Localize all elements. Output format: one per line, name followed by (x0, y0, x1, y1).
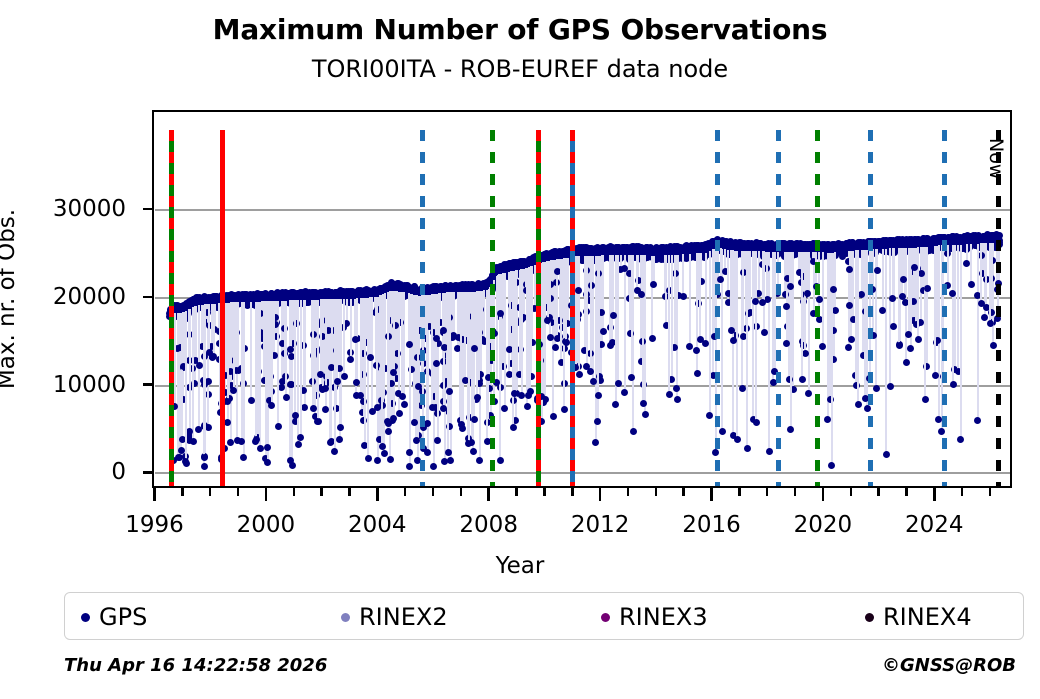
data-stem (398, 292, 400, 394)
data-point (497, 457, 504, 464)
y-tick-label: 30000 (53, 196, 126, 222)
data-point (552, 344, 559, 351)
data-point (744, 445, 751, 452)
data-point (476, 457, 483, 464)
data-stem (952, 245, 954, 293)
data-point (753, 419, 760, 426)
data-point (615, 380, 622, 387)
data-stem (766, 252, 768, 299)
chart-subtitle: TORI00ITA - ROB-EUREF data node (0, 55, 1040, 83)
y-tick-label: 0 (111, 459, 126, 485)
data-stem (970, 244, 972, 285)
data-stem (768, 252, 770, 452)
data-point (968, 281, 975, 288)
data-point (706, 412, 713, 419)
data-point (396, 410, 403, 417)
data-point (590, 378, 597, 385)
data-point (547, 334, 554, 341)
data-stem (303, 300, 305, 391)
data-stem (403, 292, 405, 404)
data-stem (806, 252, 808, 294)
data-stem (857, 250, 859, 404)
data-stem (668, 255, 670, 395)
data-stem (612, 255, 614, 316)
data-point (879, 307, 886, 314)
data-point (336, 436, 343, 443)
data-point (301, 404, 308, 411)
data-point (287, 381, 294, 388)
data-point (287, 457, 294, 464)
data-point (630, 428, 637, 435)
data-point (642, 411, 649, 418)
data-point (799, 376, 806, 383)
y-tick-label: 20000 (53, 284, 126, 310)
data-point (828, 462, 835, 469)
data-point (728, 327, 735, 334)
plot-canvas (155, 130, 1010, 486)
data-point (337, 424, 344, 431)
data-stem (758, 251, 760, 293)
data-stem (960, 245, 962, 440)
data-point (673, 385, 680, 392)
data-point (889, 295, 896, 302)
data-stem (749, 251, 751, 312)
gridline-y (155, 209, 1010, 211)
data-point (592, 439, 599, 446)
data-stem (934, 246, 936, 376)
data-stem (483, 290, 485, 341)
data-point (759, 299, 766, 306)
data-point (887, 383, 894, 390)
data-stem (340, 299, 342, 428)
data-point (873, 385, 880, 392)
data-point (899, 293, 906, 300)
data-point (693, 347, 700, 354)
data-stem (644, 255, 646, 414)
data-point (949, 290, 956, 297)
data-point (638, 291, 645, 298)
data-stem (504, 273, 506, 409)
data-point (322, 406, 329, 413)
data-stem (699, 253, 701, 339)
data-stem (833, 253, 835, 289)
data-point (846, 266, 853, 273)
data-point (922, 396, 929, 403)
data-stem (727, 250, 729, 294)
data-stem (936, 246, 938, 340)
data-stem (709, 251, 711, 415)
data-stem (985, 243, 987, 308)
data-stem (736, 251, 738, 440)
data-stem (762, 251, 764, 302)
data-stem (926, 247, 928, 289)
data-point (907, 345, 914, 352)
data-point (848, 336, 855, 343)
data-stem (601, 255, 603, 312)
data-point (594, 418, 601, 425)
data-point (883, 451, 890, 458)
data-point (447, 457, 454, 464)
data-point (430, 463, 437, 470)
data-point (550, 413, 557, 420)
data-point (275, 423, 282, 430)
data-point (819, 343, 826, 350)
data-stem (977, 244, 979, 296)
y-tick-label: 10000 (53, 372, 126, 398)
data-stem (885, 249, 887, 454)
data-stem (754, 251, 756, 301)
data-stem (917, 247, 919, 340)
data-point (649, 335, 656, 342)
data-point (387, 456, 394, 463)
data-stem (636, 255, 638, 291)
data-point (730, 337, 737, 344)
data-point (650, 281, 657, 288)
data-point (640, 400, 647, 407)
data-stem (321, 299, 323, 337)
data-stem (742, 251, 744, 337)
data-point (470, 448, 477, 455)
data-stem (720, 248, 722, 279)
data-stem (792, 252, 794, 389)
chart-figure: Maximum Number of GPS Observations TORI0… (0, 0, 1040, 699)
data-stem (903, 248, 905, 279)
data-stem (980, 243, 982, 303)
data-stem (989, 243, 991, 323)
data-point (787, 426, 794, 433)
data-point (752, 298, 759, 305)
data-point (666, 391, 673, 398)
data-point (501, 405, 508, 412)
data-point (903, 359, 910, 366)
data-point (805, 390, 812, 397)
data-point (441, 458, 448, 465)
data-point (855, 401, 862, 408)
data-point (739, 385, 746, 392)
data-point (950, 381, 957, 388)
data-point (674, 396, 681, 403)
data-point (697, 336, 704, 343)
data-stem (861, 250, 863, 294)
data-point (401, 401, 408, 408)
data-point (612, 401, 619, 408)
data-stem (682, 254, 684, 296)
data-point (957, 436, 964, 443)
data-point (915, 336, 922, 343)
data-stem (908, 248, 910, 334)
data-stem (641, 255, 643, 294)
data-point (890, 323, 897, 330)
data-point (734, 436, 741, 443)
data-point (621, 389, 628, 396)
data-point (406, 463, 413, 470)
data-point (987, 320, 994, 327)
data-point (974, 417, 981, 424)
data-point (924, 285, 931, 292)
data-stem (671, 255, 673, 380)
chart-title: Maximum Number of GPS Observations (0, 13, 1040, 46)
data-stem (689, 254, 691, 347)
data-point (845, 344, 852, 351)
data-stem (617, 255, 619, 383)
data-point (874, 267, 881, 274)
data-point (295, 441, 302, 448)
data-point (719, 428, 726, 435)
data-point (766, 448, 773, 455)
data-stem (892, 248, 894, 298)
data-stem (674, 255, 676, 348)
data-stem (730, 250, 732, 330)
data-point (787, 283, 794, 290)
data-point (761, 329, 768, 336)
data-stem (882, 249, 884, 310)
data-point (978, 300, 985, 307)
data-stem (801, 252, 803, 379)
data-point (918, 270, 925, 277)
data-stem (624, 255, 626, 392)
data-point (694, 370, 701, 377)
data-point (896, 342, 903, 349)
data-stem (195, 306, 197, 360)
data-stem (631, 255, 633, 377)
data-stem (947, 245, 949, 285)
data-point (686, 343, 693, 350)
data-point (600, 328, 607, 335)
data-stem (705, 253, 707, 344)
data-point (830, 286, 837, 293)
data-point (963, 260, 970, 267)
data-stem (746, 251, 748, 448)
gridline-y (155, 472, 1010, 474)
data-stem (281, 301, 283, 344)
data-stem (789, 252, 791, 286)
data-point (610, 312, 617, 319)
data-point (374, 457, 381, 464)
